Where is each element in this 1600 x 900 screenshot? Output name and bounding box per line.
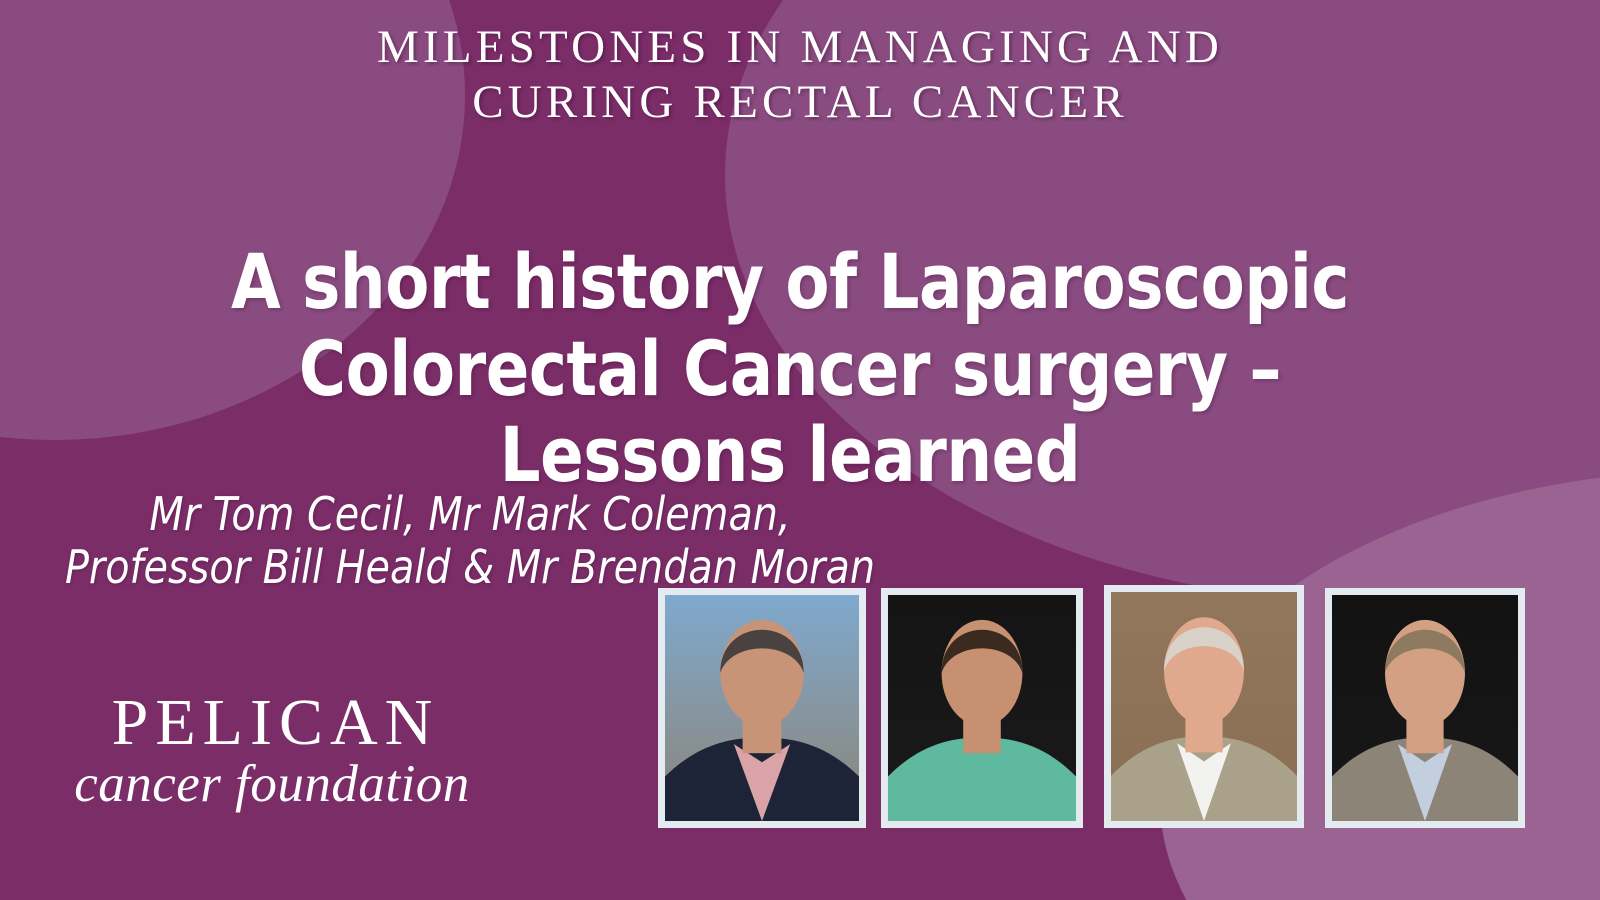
logo-tagline: cancer foundation <box>62 758 482 811</box>
presenter-names: Mr Tom Cecil, Mr Mark Coleman, Professor… <box>57 488 883 595</box>
photo-tom-cecil-image <box>665 595 859 821</box>
photo-mark-coleman <box>881 588 1083 828</box>
slide-eyebrow-heading: Milestones in managing and curing rectal… <box>0 20 1600 130</box>
page-title: A short history of Laparoscopic Colorect… <box>141 239 1438 499</box>
photo-brendan-moran-image <box>1332 595 1518 821</box>
photo-brendan-moran <box>1325 588 1525 828</box>
presentation-slide: Milestones in managing and curing rectal… <box>0 0 1600 900</box>
logo-wordmark: PELICAN <box>62 690 482 756</box>
photo-tom-cecil <box>658 588 866 828</box>
photo-bill-heald <box>1104 585 1304 828</box>
photo-mark-coleman-image <box>888 595 1076 821</box>
pelican-logo: PELICAN cancer foundation <box>62 690 482 811</box>
photo-bill-heald-image <box>1111 592 1297 821</box>
